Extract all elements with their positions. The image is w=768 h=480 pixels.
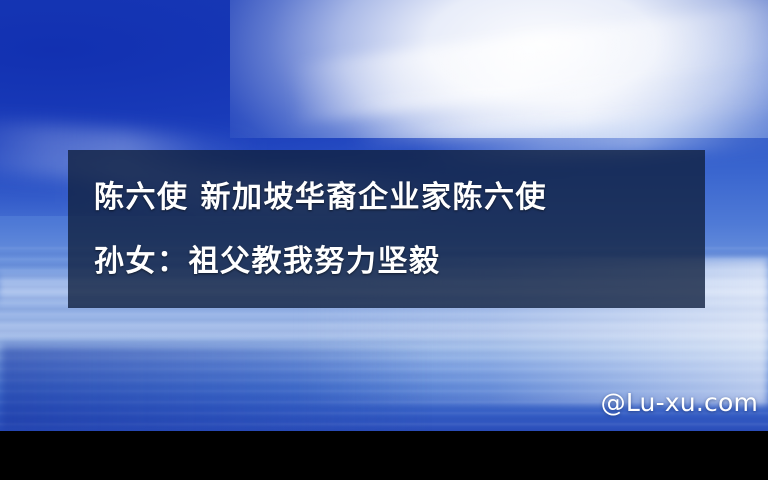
sea-shadow: [0, 345, 430, 431]
title-overlay-panel: 陈六使 新加坡华裔企业家陈六使 孙女：祖父教我努力坚毅: [68, 150, 705, 308]
watermark-text: @Lu-xu.com: [601, 388, 758, 417]
title-card-screen: 陈六使 新加坡华裔企业家陈六使 孙女：祖父教我努力坚毅 @Lu-xu.com: [0, 0, 768, 480]
title-line-2: 孙女：祖父教我努力坚毅: [94, 230, 679, 294]
bottom-letterbox-bar: [0, 431, 768, 480]
title-line-1: 陈六使 新加坡华裔企业家陈六使: [94, 166, 679, 230]
